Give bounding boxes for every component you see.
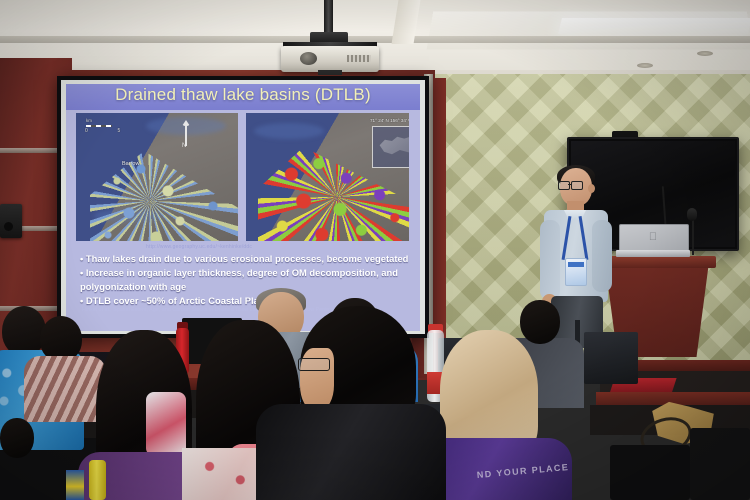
presenter-left-arm <box>540 220 560 300</box>
bottle-yellow <box>89 460 106 500</box>
glasses-icon <box>298 358 330 371</box>
slide-title: Drained thaw lake basins (DTLB) <box>66 85 420 105</box>
sea-swirl <box>254 123 324 139</box>
audience-member-head <box>520 300 560 344</box>
chair <box>610 445 690 500</box>
slide-source-url: http://www.geography.uc.edu/~kenhinke/dd… <box>146 244 252 250</box>
alaska-inset-map <box>372 126 409 168</box>
projector-foot <box>318 70 342 75</box>
audience-laptop[interactable] <box>584 332 638 384</box>
audience-member-head <box>2 306 46 356</box>
audience-member-body <box>256 404 446 500</box>
audience-member-head <box>0 418 34 458</box>
microphone-icon[interactable] <box>687 208 697 221</box>
ceiling-spotlight-icon <box>697 51 713 56</box>
map-label-barrow: Barrow <box>122 161 139 169</box>
map-left-panel: km 0 5 Barrow N <box>76 113 238 241</box>
projector-mount-pole <box>324 0 333 36</box>
glasses-icon <box>558 181 584 188</box>
projector-lens-icon <box>300 52 317 65</box>
scarf <box>146 392 186 456</box>
slide-bullet: • Increase in organic layer thickness, d… <box>80 266 410 293</box>
north-arrow-label: N <box>182 143 186 149</box>
scale-bar-ticks: 0 5 <box>85 128 129 135</box>
presenter-ear <box>588 184 595 193</box>
slide-bullet: • Thaw lakes drain due to various erosio… <box>80 252 410 265</box>
audience-member-body <box>24 356 106 422</box>
presentation-slide: Drained thaw lake basins (DTLB) km 0 5 B… <box>66 84 420 331</box>
projector-vent <box>347 55 371 62</box>
scale-bar-label: km <box>86 118 92 124</box>
microphone-stand <box>692 215 694 255</box>
ceiling-light-panel <box>558 18 750 34</box>
map-coordinates: 71° 24' N 156° 34' W <box>370 118 409 125</box>
presenter-laptop-base <box>616 250 690 257</box>
chair <box>690 428 750 500</box>
scale-bar <box>86 125 112 127</box>
name-badge <box>565 258 587 286</box>
lecture-hall-photo: Drained thaw lake basins (DTLB) km 0 5 B… <box>0 0 750 500</box>
apple-logo-icon:  <box>648 232 658 244</box>
ceiling-spotlight-icon <box>637 63 653 68</box>
wall-speaker-icon <box>0 204 22 238</box>
map-right-panel: 71° 24' N 156° 34' W Yellow:Young (0-50 … <box>246 113 409 241</box>
north-arrow-icon: N <box>181 119 191 153</box>
bottle-blue <box>66 470 84 500</box>
presenter-right-arm <box>592 220 612 292</box>
